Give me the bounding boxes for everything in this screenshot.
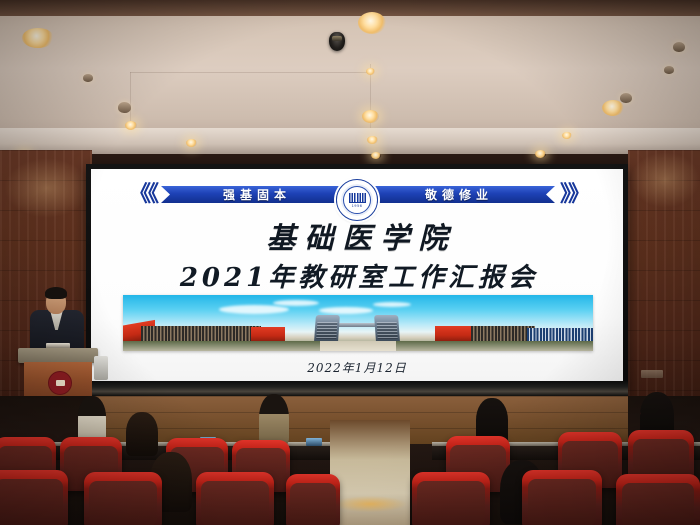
photo-building (527, 328, 593, 342)
downlight (366, 68, 375, 75)
photo-tower (374, 315, 400, 341)
wall-light-glow (4, 158, 90, 218)
motto-right-text: 敬德修业 (425, 186, 493, 203)
ceiling-spotlight (673, 42, 685, 52)
downlight (362, 110, 379, 123)
slide-content: 《《 强基固本 敬德修业 》》 1956 基础医学院 2021年教研室工作汇报会 (91, 169, 623, 381)
ceiling-light-band (0, 128, 700, 154)
motto-ribbon-left: 强基固本 (161, 186, 353, 203)
cloud (319, 307, 373, 314)
emblem-core: 1956 (343, 186, 371, 214)
motto-left-text: 强基固本 (223, 186, 291, 203)
audience-person (126, 412, 158, 456)
side-equipment (94, 356, 108, 380)
downlight (535, 150, 546, 158)
podium-area (6, 272, 98, 400)
lecture-hall-photo: 《《 强基固本 敬德修业 》》 1956 基础医学院 2021年教研室工作汇报会 (0, 0, 700, 525)
audience-person (259, 394, 289, 446)
downlight (358, 12, 386, 34)
cloud (273, 300, 319, 306)
ceiling-seam (130, 72, 370, 73)
ceiling-spotlight (664, 66, 674, 74)
downlight (125, 121, 137, 130)
wall-plate (641, 370, 663, 378)
open-laptop (306, 438, 322, 446)
podium-top (18, 348, 98, 363)
auditorium-seat (196, 472, 274, 525)
led-display-screen: 《《 强基固本 敬德修业 》》 1956 基础医学院 2021年教研室工作汇报会 (86, 164, 628, 396)
photo-tower (314, 315, 340, 341)
ceiling-spotlight (620, 93, 632, 103)
downlight (602, 100, 624, 116)
dome-camera-icon (329, 32, 345, 51)
speaker-hair (45, 287, 67, 299)
downlight (367, 136, 378, 144)
cloud (373, 302, 411, 307)
wall-light-glow (630, 152, 700, 208)
slide-banner: 《《 强基固本 敬德修业 》》 1956 (91, 179, 623, 209)
auditorium-seat (84, 472, 162, 525)
podium-university-seal-icon (48, 371, 72, 395)
auditorium-seat (522, 470, 602, 525)
auditorium-seat (412, 472, 490, 525)
emblem-year-text: 1956 (352, 204, 363, 208)
chevron-left-icon: 《《 (129, 184, 156, 204)
slide-date: 2022年1月12日 (91, 359, 623, 376)
photo-plaza (320, 341, 395, 351)
slide-subtitle: 2021年教研室工作汇报会 (91, 257, 623, 294)
auditorium-seat (0, 470, 68, 525)
motto-ribbon-right: 敬德修业 (363, 186, 555, 203)
screen-bezel (86, 381, 628, 396)
cloud (219, 305, 289, 314)
slide-title: 基础医学院 (91, 215, 623, 257)
ceiling-spotlight (118, 102, 131, 113)
campus-panorama-photo (123, 295, 593, 351)
downlight (562, 132, 572, 139)
ceiling-soffit (0, 0, 700, 16)
downlight (371, 152, 381, 159)
auditorium-seat (286, 474, 340, 525)
aisle-floor-reflection (334, 496, 406, 512)
downlight (22, 28, 54, 48)
auditorium-seat (616, 474, 700, 525)
ceiling (0, 0, 700, 152)
emblem-building-glyph (349, 193, 366, 203)
ceiling-spotlight (83, 74, 93, 82)
downlight (186, 139, 197, 147)
chevron-right-icon: 》》 (560, 184, 587, 204)
